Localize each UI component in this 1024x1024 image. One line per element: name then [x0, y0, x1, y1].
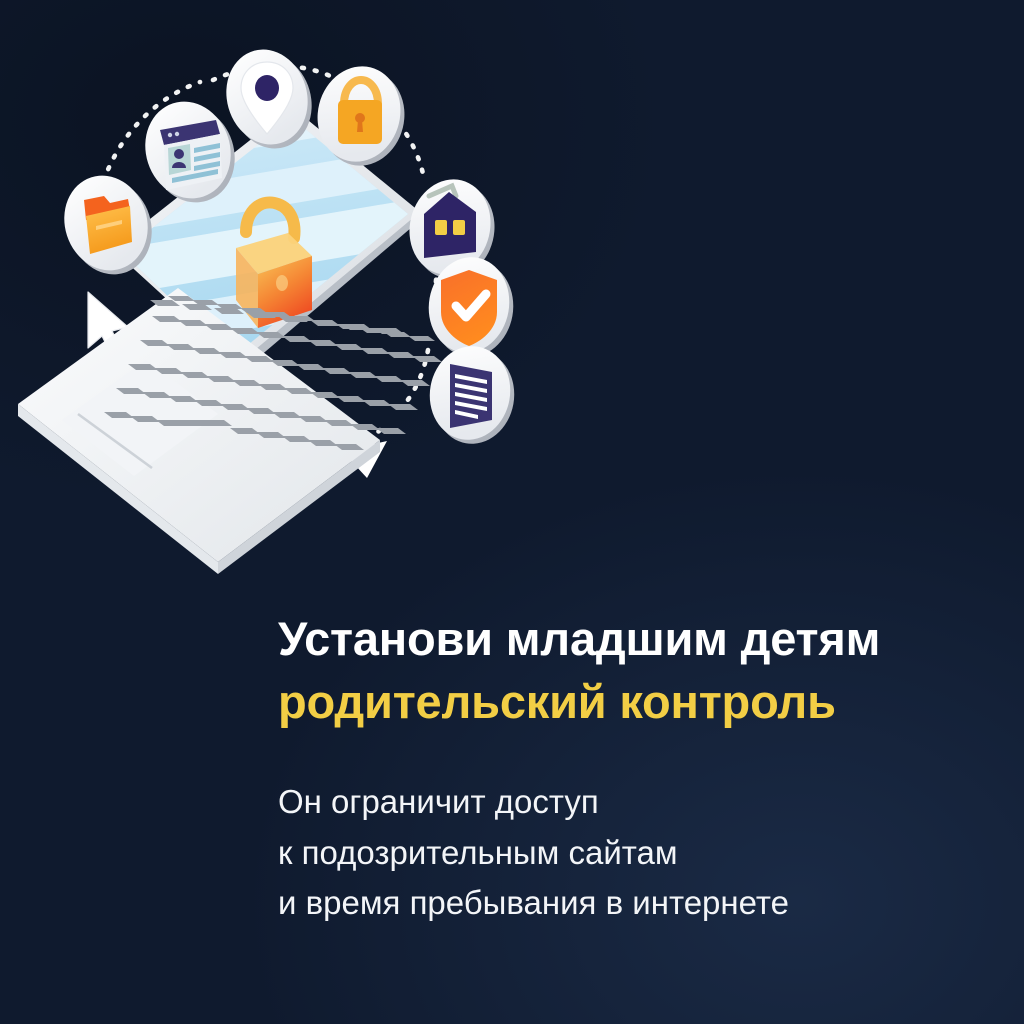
- body-line-2: к подозрительным сайтам: [278, 828, 978, 878]
- body-copy: Он ограничит доступ к подозрительным сай…: [278, 777, 978, 928]
- headline-line-1: Установи младшим детям: [278, 608, 978, 669]
- body-line-1: Он ограничит доступ: [278, 777, 978, 827]
- poster-canvas: Установи младшим детям родительский конт…: [0, 0, 1024, 1024]
- headline-line-2: родительский контроль: [278, 671, 978, 732]
- orbit-chip-document: [422, 340, 521, 450]
- profile-card-icon: [160, 120, 222, 190]
- body-line-3: и время пребывания в интернете: [278, 878, 978, 928]
- copy-block: Установи младшим детям родительский конт…: [278, 608, 978, 929]
- document-icon: [450, 364, 492, 428]
- laptop-illustration: [0, 0, 560, 600]
